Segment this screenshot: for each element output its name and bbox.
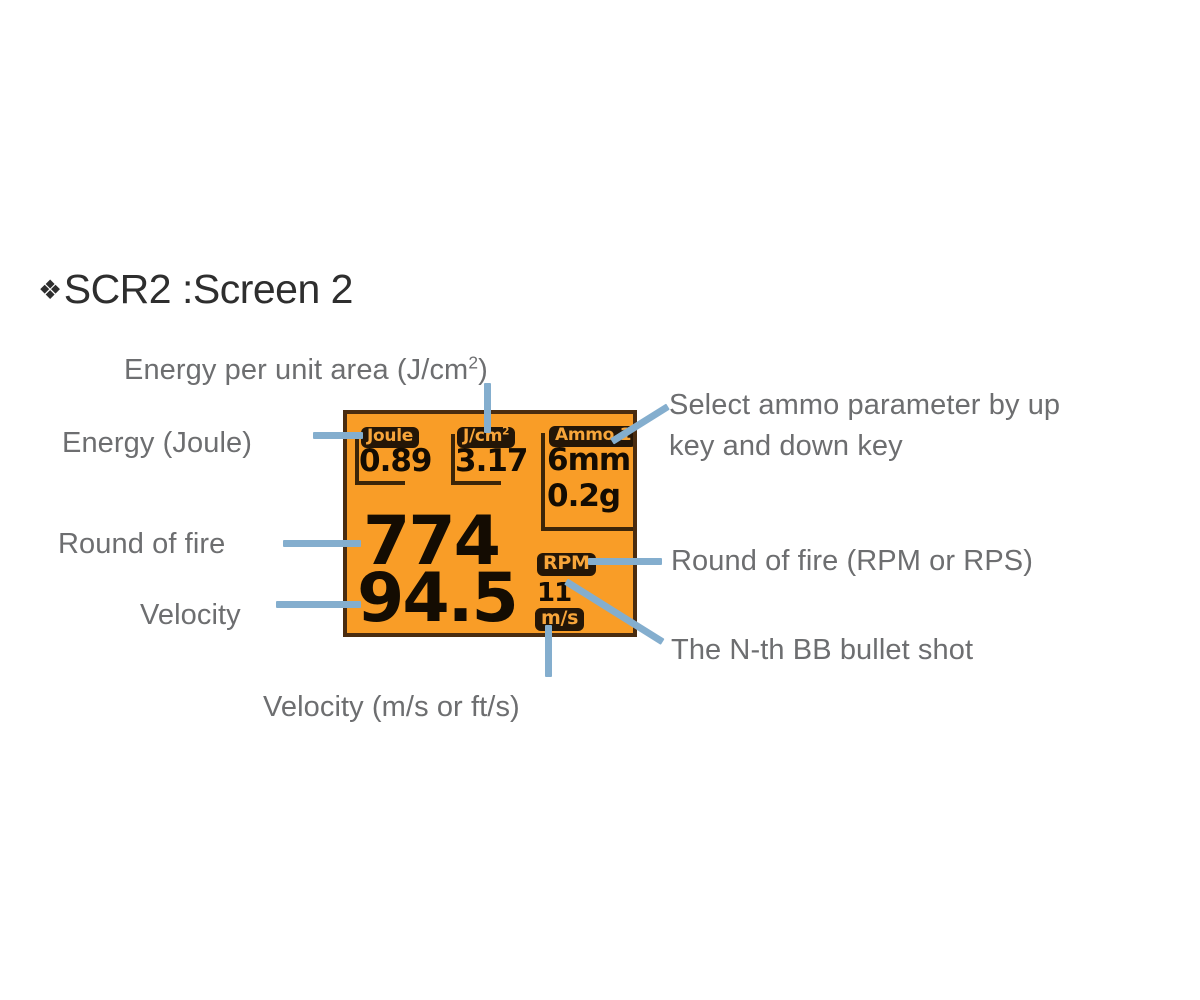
annotation-round-of-fire: Round of fire [58, 524, 225, 565]
diagram-canvas: ❖SCR2 :Screen 2 Joule 0.89 J/cm2 3.17 Am… [0, 0, 1200, 1000]
rof-unit-badge[interactable]: RPM [537, 553, 596, 576]
annotation-round-of-fire-units: Round of fire (RPM or RPS) [671, 541, 1033, 582]
page-title: ❖SCR2 :Screen 2 [38, 266, 353, 313]
annotation-energy-per-unit-area: Energy per unit area (J/cm2) [124, 350, 488, 391]
joule-value: 0.89 [359, 446, 432, 477]
leader-line-round-of-fire [283, 540, 361, 547]
annotation-energy-joule: Energy (Joule) [62, 423, 252, 464]
annotation-velocity: Velocity [140, 595, 241, 636]
velocity-value: 94.5 [357, 565, 517, 633]
leader-line-velocity [276, 601, 361, 608]
annotation-velocity-units: Velocity (m/s or ft/s) [263, 687, 520, 728]
annotation-paren-close: ) [478, 354, 488, 386]
ammo-weight-value: 0.2g [547, 481, 620, 512]
annotation-energy-per-unit-area-text: Energy per unit area (J/cm [124, 354, 468, 386]
annotation-select-ammo: Select ammo parameter by up key and down… [669, 385, 1169, 467]
ammo-diameter-value: 6mm [547, 445, 630, 476]
leader-line-rof-units [588, 558, 662, 565]
annotation-nth-bb: The N-th BB bullet shot [671, 630, 973, 671]
leader-line-velocity-units [545, 625, 552, 677]
velocity-unit-badge[interactable]: m/s [535, 608, 584, 631]
page-title-text: SCR2 :Screen 2 [64, 266, 353, 312]
jcm2-label-exponent: 2 [502, 425, 509, 437]
leader-line-energy-joule [313, 432, 363, 439]
annotation-exponent: 2 [468, 352, 478, 372]
jcm2-value: 3.17 [455, 446, 528, 477]
diamond-bullet-icon: ❖ [38, 275, 62, 305]
